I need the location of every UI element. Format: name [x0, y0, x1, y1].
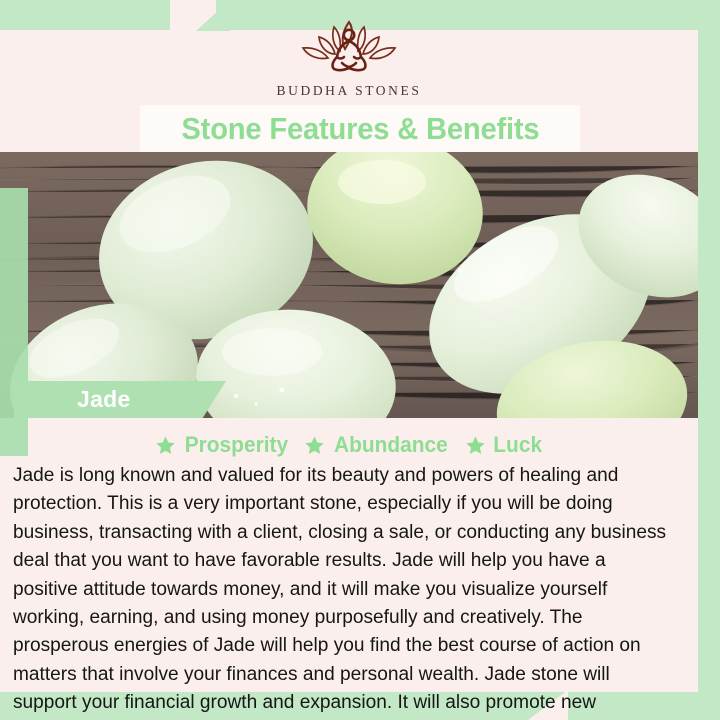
stone-description: Jade is long known and valued for its be… — [13, 461, 674, 720]
title-banner: Stone Features & Benefits — [140, 105, 580, 152]
page-title: Stone Features & Benefits — [181, 111, 539, 147]
stone-name: Jade — [77, 386, 131, 413]
star-icon — [465, 435, 486, 456]
stone-label-band: Jade — [14, 381, 226, 418]
benefit-label: Abundance — [334, 432, 448, 458]
benefits-row: Prosperity Abundance Luck — [0, 432, 698, 458]
star-icon — [304, 435, 325, 456]
brand-name: BUDDHA STONES — [277, 83, 422, 99]
star-icon — [155, 435, 176, 456]
benefit-item: Luck — [465, 432, 543, 458]
brand-logo: BUDDHA STONES — [0, 16, 698, 99]
infographic-page: BUDDHA STONES Stone Features & Benefits — [0, 0, 720, 720]
benefit-item: Prosperity — [155, 432, 291, 458]
lotus-meditation-icon — [290, 16, 408, 78]
benefit-item: Abundance — [304, 432, 451, 458]
benefit-label: Prosperity — [184, 432, 287, 458]
benefit-label: Luck — [493, 432, 542, 458]
hero-image — [0, 152, 698, 418]
